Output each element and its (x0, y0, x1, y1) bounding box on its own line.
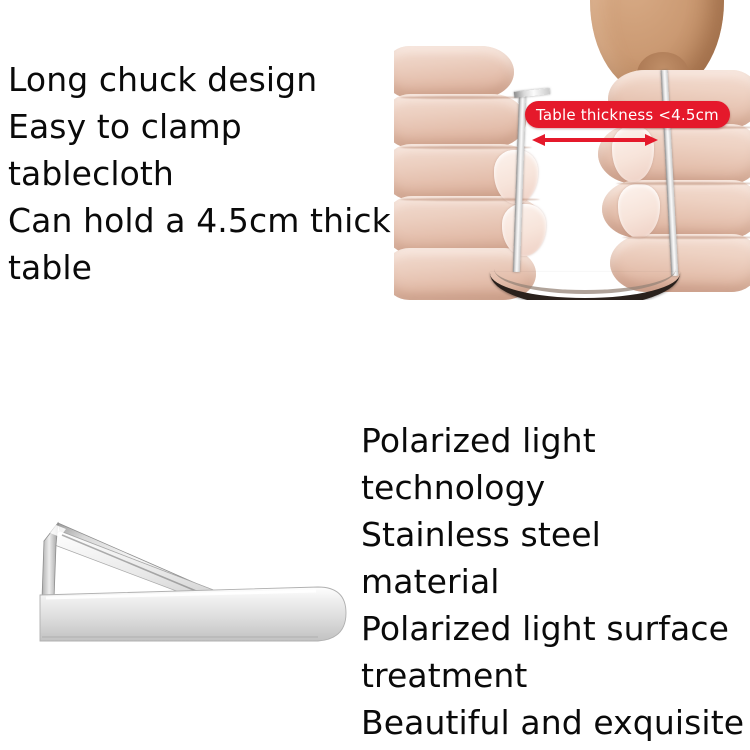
clip-left-tip (514, 88, 550, 98)
clip-bottom-bar (490, 272, 680, 300)
steel-clip-product-photo (0, 495, 370, 665)
left-hand-crease-2 (400, 146, 532, 149)
left-hand-finger-1 (394, 46, 514, 98)
top-left-feature-text: Long chuck design Easy to clamp tableclo… (8, 56, 396, 291)
left-hand-crease-1 (400, 96, 520, 99)
right-hand-crease-3 (622, 236, 750, 239)
left-hand-finger-2 (394, 94, 526, 148)
product-feature-image: Long chuck design Easy to clamp tableclo… (0, 0, 750, 750)
table-thickness-badge: Table thickness <4.5cm (525, 101, 730, 128)
hands-holding-clip-photo: Table thickness <4.5cm (394, 0, 750, 300)
double-headed-measure-arrow (532, 132, 658, 148)
left-hand-nail-2 (502, 204, 546, 256)
bottom-right-feature-text: Polarized light technology Stainless ste… (361, 417, 746, 746)
right-hand-crease-2 (616, 182, 750, 185)
